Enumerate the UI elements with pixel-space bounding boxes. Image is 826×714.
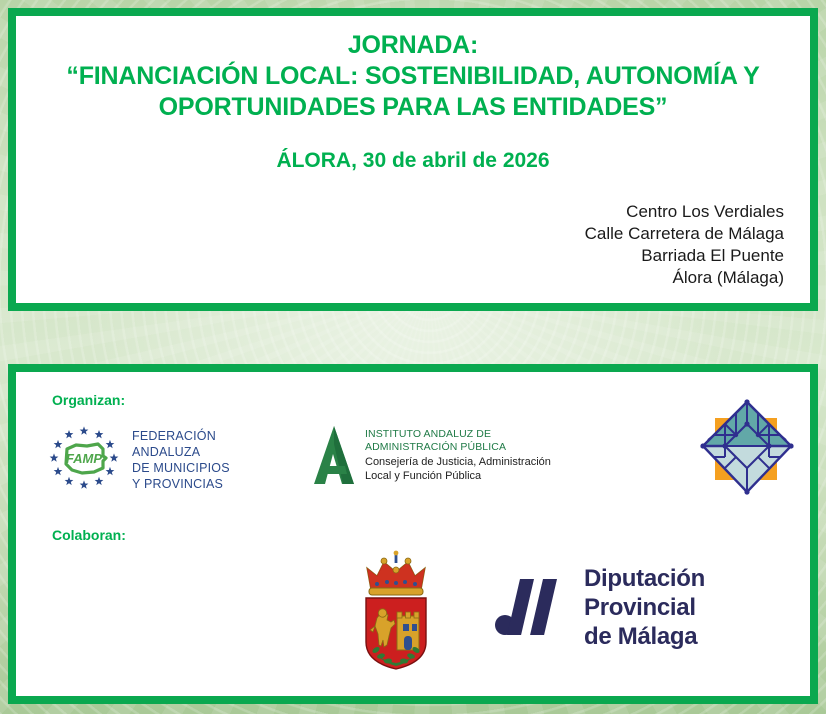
iaap-department-name: Consejería de Justicia, Administración L… bbox=[365, 455, 551, 483]
title-block: JORNADA: “FINANCIACIÓN LOCAL: SOSTENIBIL… bbox=[16, 16, 810, 173]
famp-name: FEDERACIÓN ANDALUZA DE MUNICIPIOS Y PROV… bbox=[132, 428, 230, 492]
venue-line-2: Calle Carretera de Málaga bbox=[16, 223, 784, 245]
header-panel: JORNADA: “FINANCIACIÓN LOCAL: SOSTENIBIL… bbox=[8, 8, 818, 311]
event-date: ÁLORA, 30 de abril de 2026 bbox=[42, 149, 784, 173]
title-line-1: JORNADA: bbox=[42, 30, 784, 61]
diputacion-mark-icon bbox=[494, 579, 570, 635]
iaap-logo: INSTITUTO ANDALUZ DE ADMINISTRACIÓN PÚBL… bbox=[312, 424, 602, 494]
colaboran-label: Colaboran: bbox=[52, 527, 126, 543]
title-line-2: “FINANCIACIÓN LOCAL: SOSTENIBILIDAD, AUT… bbox=[42, 61, 784, 92]
diamond-emblem-icon bbox=[697, 396, 797, 496]
venue-line-1: Centro Los Verdiales bbox=[16, 201, 784, 223]
organizan-label: Organizan: bbox=[52, 392, 125, 408]
junta-andalucia-a-icon bbox=[312, 424, 356, 486]
venue-line-3: Barriada El Puente bbox=[16, 245, 784, 267]
famp-emblem-icon: FAMP bbox=[46, 424, 124, 496]
iaap-text-block: INSTITUTO ANDALUZ DE ADMINISTRACIÓN PÚBL… bbox=[365, 424, 551, 483]
famp-logo: FAMP FEDERACIÓN ANDALUZA DE MUNICIPIOS Y… bbox=[46, 420, 276, 500]
alora-coat-of-arms-icon bbox=[353, 550, 439, 672]
venue-address: Centro Los Verdiales Calle Carretera de … bbox=[16, 201, 810, 289]
svg-text:FAMP: FAMP bbox=[66, 451, 102, 466]
title-line-3: OPORTUNIDADES PARA LAS ENTIDADES” bbox=[42, 92, 784, 123]
sponsors-panel: Organizan: Colaboran: FAMP FEDERACIÓN AN… bbox=[8, 364, 818, 704]
diputacion-malaga-logo: Diputación Provincial de Málaga bbox=[494, 567, 814, 647]
diputacion-name: Diputación Provincial de Málaga bbox=[584, 564, 814, 651]
venue-line-4: Álora (Málaga) bbox=[16, 267, 784, 289]
iaap-institute-name: INSTITUTO ANDALUZ DE ADMINISTRACIÓN PÚBL… bbox=[365, 428, 551, 453]
